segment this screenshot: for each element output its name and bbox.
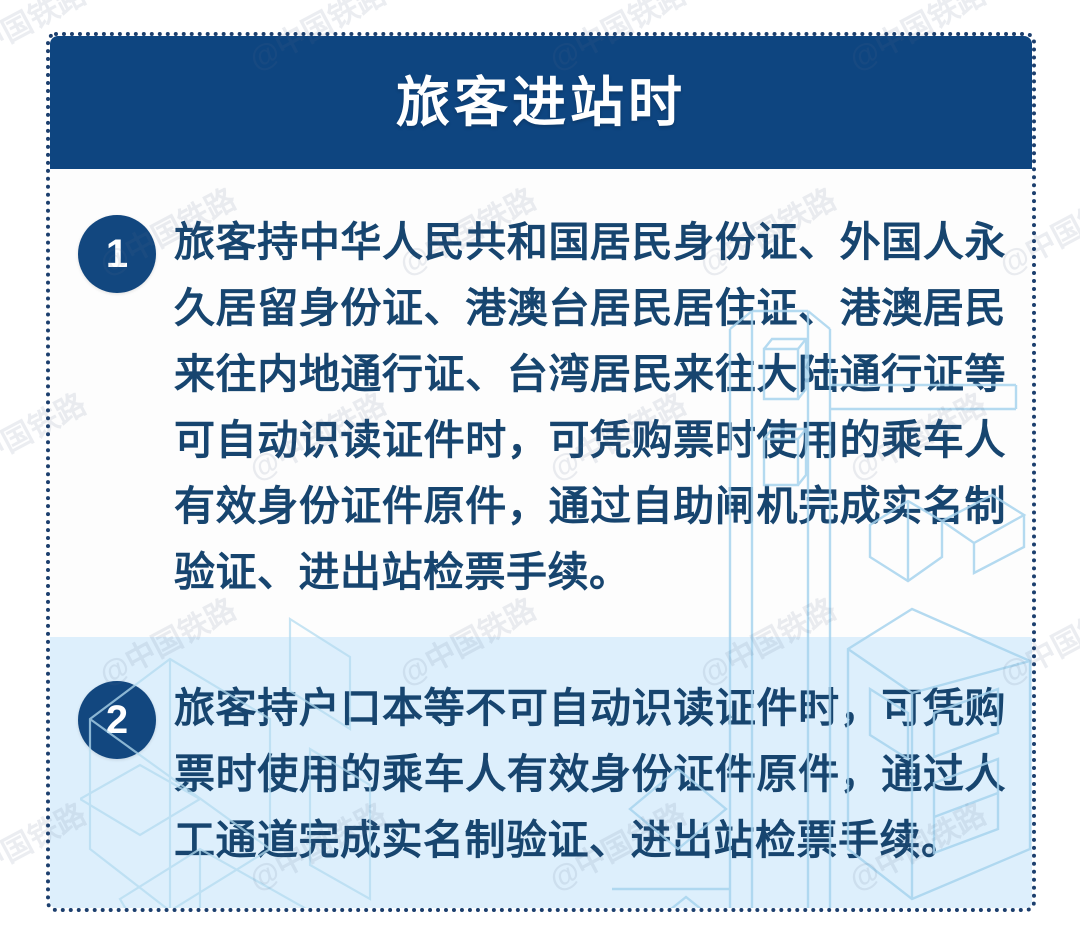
item-number-badge: 2 <box>78 681 156 759</box>
content-section-2: 2 旅客持户口本等不可自动识读证件时，可凭购票时使用的乘车人有效身份证件原件，通… <box>50 637 1032 908</box>
infographic-poster: 旅客进站时 <box>0 0 1080 946</box>
card-inner: 旅客进站时 <box>50 36 1032 908</box>
page-title: 旅客进站时 <box>396 76 686 130</box>
body-region: 1 旅客持中华人民共和国居民身份证、外国人永久居留身份证、港澳台居民居住证、港澳… <box>50 169 1032 908</box>
item-paragraph: 旅客持中华人民共和国居民身份证、外国人永久居留身份证、港澳台居民居住证、港澳居民… <box>174 209 1006 605</box>
dashed-border-card: 旅客进站时 <box>46 32 1036 912</box>
header-band: 旅客进站时 <box>50 36 1032 169</box>
item-paragraph: 旅客持户口本等不可自动识读证件时，可凭购票时使用的乘车人有效身份证件原件，通过人… <box>174 675 1006 873</box>
item-number-badge: 1 <box>78 215 156 293</box>
content-section-1: 1 旅客持中华人民共和国居民身份证、外国人永久居留身份证、港澳台居民居住证、港澳… <box>50 169 1032 637</box>
